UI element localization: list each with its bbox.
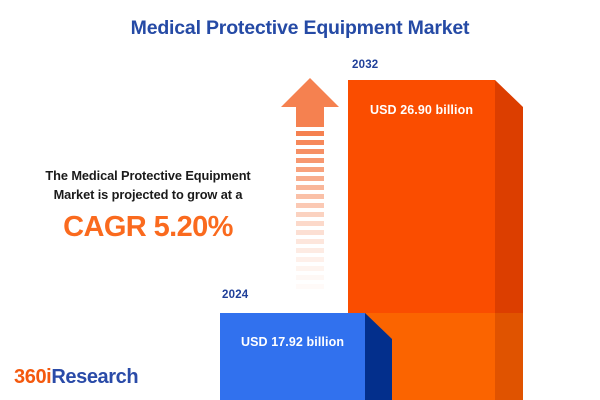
- cagr-callout: The Medical Protective Equipment Market …: [14, 166, 282, 244]
- arrow-stripe: [296, 158, 324, 163]
- brand-logo: 360iResearch: [14, 366, 138, 389]
- arrow-stripe: [296, 194, 324, 199]
- callout-line-1: The Medical Protective Equipment: [14, 166, 282, 185]
- arrow-stripe: [296, 221, 324, 226]
- bar-2024: USD 17.92 billion: [220, 313, 392, 400]
- arrow-stripe: [296, 149, 324, 154]
- infographic-canvas: Medical Protective Equipment Market 2032…: [0, 0, 600, 400]
- cagr-value: CAGR 5.20%: [14, 210, 282, 244]
- arrow-stripe: [296, 203, 324, 208]
- arrow-head-icon: [281, 78, 339, 127]
- year-label-2032: 2032: [352, 59, 378, 71]
- arrow-stripe: [296, 239, 324, 244]
- arrow-stripe: [296, 248, 324, 253]
- callout-line-2: Market is projected to grow at a: [14, 185, 282, 204]
- arrow-stripe: [296, 167, 324, 172]
- arrow-stripe: [296, 212, 324, 217]
- arrow-stripe: [296, 266, 324, 271]
- arrow-stripe: [296, 275, 324, 280]
- arrow-stripe: [296, 140, 324, 145]
- arrow-stripe: [296, 257, 324, 262]
- bar-2032-value-label: USD 26.90 billion: [348, 103, 495, 117]
- arrow-stripe: [296, 176, 324, 181]
- arrow-stripe: [296, 131, 324, 136]
- logo-text-360: 360: [14, 366, 46, 388]
- arrow-stripe: [296, 185, 324, 190]
- arrow-stripe: [296, 230, 324, 235]
- arrow-stripe: [296, 284, 324, 289]
- bar-2024-value-label: USD 17.92 billion: [220, 335, 365, 349]
- logo-text-research: Research: [51, 366, 138, 388]
- bar-2024-front-face: [220, 313, 365, 400]
- growth-arrow-icon: [281, 78, 339, 293]
- page-title: Medical Protective Equipment Market: [0, 17, 600, 40]
- year-label-2024: 2024: [222, 289, 248, 301]
- bar-2032-base-plane-side: [495, 313, 523, 400]
